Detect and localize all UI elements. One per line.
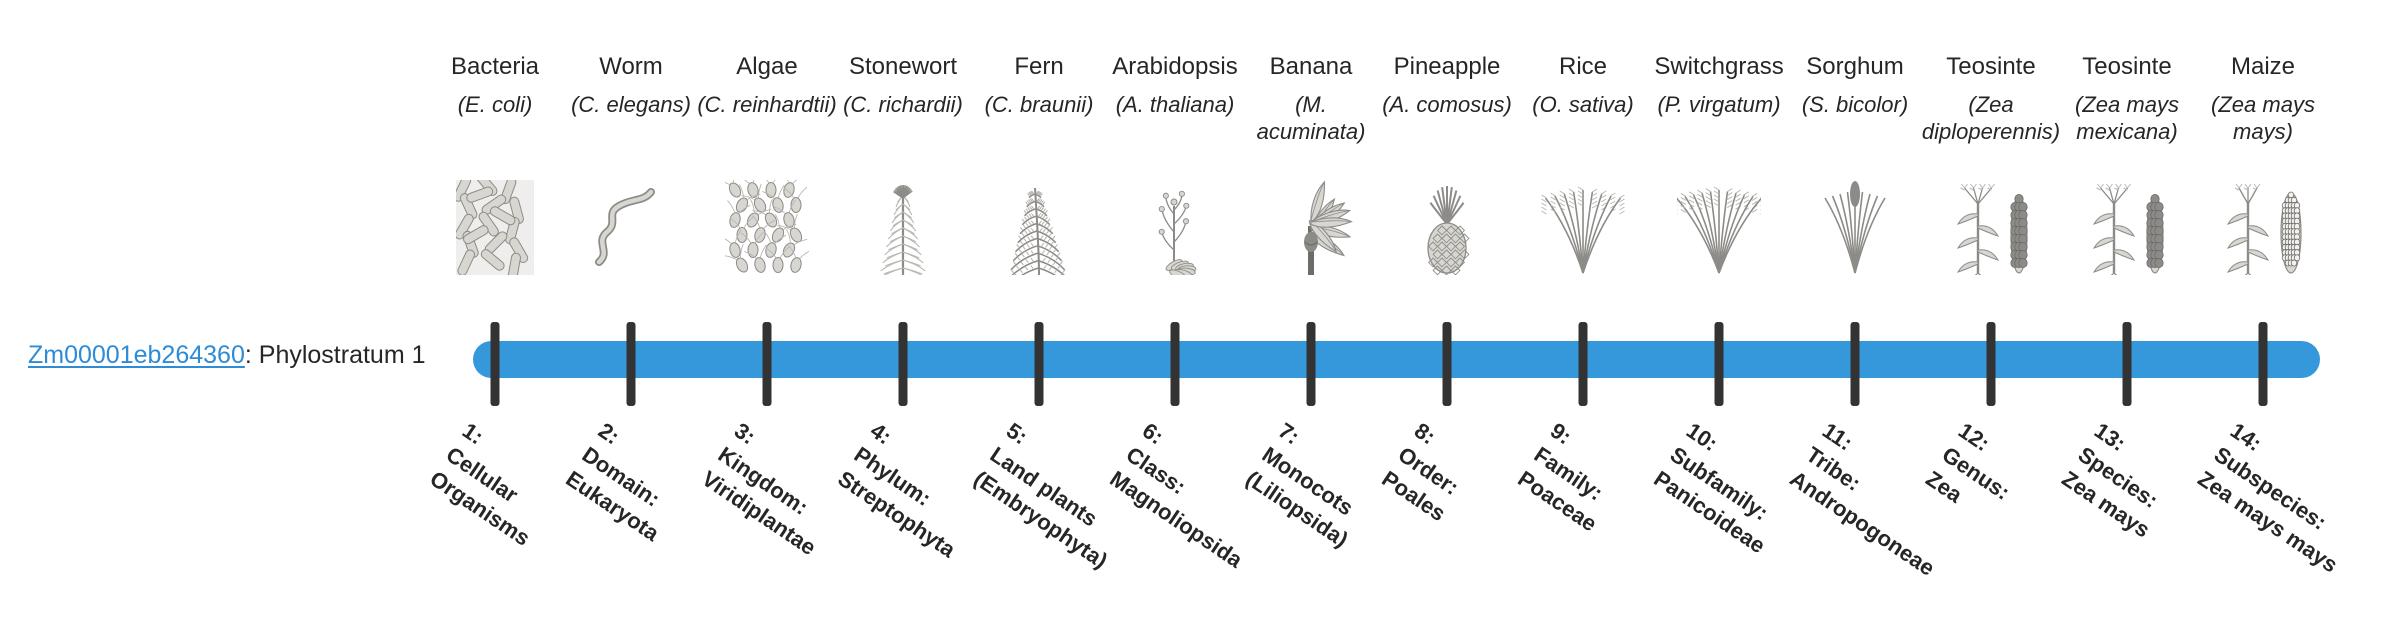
- banana-illustration: [1241, 170, 1381, 275]
- phylostratum-bar: [473, 341, 2320, 378]
- species-column-12: Teosinte(Zea diploperennis): [1921, 52, 2061, 145]
- fern-illustration: [969, 170, 1109, 275]
- species-scientific-name: (M. acuminata): [1241, 91, 1381, 145]
- species-column-5: Fern(C. braunii): [969, 52, 1109, 118]
- label-separator: :: [245, 341, 259, 369]
- species-column-3: Algae(C. reinhardtii): [697, 52, 837, 118]
- species-scientific-name: (C. elegans): [561, 91, 701, 118]
- timeline-tick-11: [1851, 322, 1860, 406]
- species-scientific-name: (Zea diploperennis): [1921, 91, 2061, 145]
- species-column-8: Pineapple(A. comosus): [1377, 52, 1517, 118]
- species-common-name: Rice: [1513, 52, 1653, 82]
- species-column-14: Maize(Zea mays mays): [2193, 52, 2333, 145]
- phylostratum-timeline-figure: Zm00001eb264360: Phylostratum 1 Bacteria…: [0, 0, 2400, 580]
- stonewort-illustration: [833, 170, 973, 275]
- species-scientific-name: (S. bicolor): [1785, 91, 1925, 118]
- species-scientific-name: (O. sativa): [1513, 91, 1653, 118]
- species-common-name: Algae: [697, 52, 837, 82]
- pineapple-illustration: [1377, 170, 1517, 275]
- species-common-name: Sorghum: [1785, 52, 1925, 82]
- timeline-tick-10: [1715, 322, 1724, 406]
- gene-phylostratum-label: Zm00001eb264360: Phylostratum 1: [28, 340, 426, 370]
- timeline-tick-8: [1443, 322, 1452, 406]
- species-common-name: Teosinte: [1921, 52, 2061, 82]
- switchgrass-illustration: [1649, 170, 1789, 275]
- species-column-11: Sorghum(S. bicolor): [1785, 52, 1925, 118]
- timeline-tick-2: [627, 322, 636, 406]
- species-scientific-name: (A. comosus): [1377, 91, 1517, 118]
- species-scientific-name: (C. richardii): [833, 91, 973, 118]
- timeline-tick-7: [1307, 322, 1316, 406]
- timeline-tick-9: [1579, 322, 1588, 406]
- phylostratum-value: Phylostratum 1: [259, 341, 426, 369]
- species-common-name: Arabidopsis: [1105, 52, 1245, 82]
- timeline-tick-4: [899, 322, 908, 406]
- teosinte-diploperennis-illustration: [1921, 170, 2061, 275]
- species-scientific-name: (E. coli): [425, 91, 565, 118]
- timeline-tick-13: [2123, 322, 2132, 406]
- species-column-9: Rice(O. sativa): [1513, 52, 1653, 118]
- timeline-tick-12: [1987, 322, 1996, 406]
- species-common-name: Teosinte: [2057, 52, 2197, 82]
- gene-id-link[interactable]: Zm00001eb264360: [28, 341, 245, 369]
- species-common-name: Pineapple: [1377, 52, 1517, 82]
- species-scientific-name: (C. braunii): [969, 91, 1109, 118]
- species-column-10: Switchgrass(P. virgatum): [1649, 52, 1789, 118]
- species-common-name: Maize: [2193, 52, 2333, 82]
- maize-illustration: [2193, 170, 2333, 275]
- species-common-name: Bacteria: [425, 52, 565, 82]
- sorghum-illustration: [1785, 170, 1925, 275]
- timeline-tick-14: [2259, 322, 2268, 406]
- species-column-13: Teosinte(Zea mays mexicana): [2057, 52, 2197, 145]
- species-common-name: Banana: [1241, 52, 1381, 82]
- species-column-4: Stonewort(C. richardii): [833, 52, 973, 118]
- species-column-6: Arabidopsis(A. thaliana): [1105, 52, 1245, 118]
- teosinte-mexicana-illustration: [2057, 170, 2197, 275]
- species-common-name: Worm: [561, 52, 701, 82]
- rice-illustration: [1513, 170, 1653, 275]
- species-scientific-name: (Zea mays mays): [2193, 91, 2333, 145]
- species-common-name: Fern: [969, 52, 1109, 82]
- timeline-tick-3: [763, 322, 772, 406]
- timeline-tick-6: [1171, 322, 1180, 406]
- species-common-name: Switchgrass: [1649, 52, 1789, 82]
- species-scientific-name: (C. reinhardtii): [697, 91, 837, 118]
- bacteria-illustration: [425, 170, 565, 275]
- arabidopsis-illustration: [1105, 170, 1245, 275]
- species-column-2: Worm(C. elegans): [561, 52, 701, 118]
- species-scientific-name: (Zea mays mexicana): [2057, 91, 2197, 145]
- timeline-tick-5: [1035, 322, 1044, 406]
- algae-illustration: [697, 170, 837, 275]
- worm-illustration: [561, 170, 701, 275]
- species-column-7: Banana(M. acuminata): [1241, 52, 1381, 145]
- timeline-tick-1: [491, 322, 500, 406]
- species-column-1: Bacteria(E. coli): [425, 52, 565, 118]
- species-common-name: Stonewort: [833, 52, 973, 82]
- species-scientific-name: (A. thaliana): [1105, 91, 1245, 118]
- species-scientific-name: (P. virgatum): [1649, 91, 1789, 118]
